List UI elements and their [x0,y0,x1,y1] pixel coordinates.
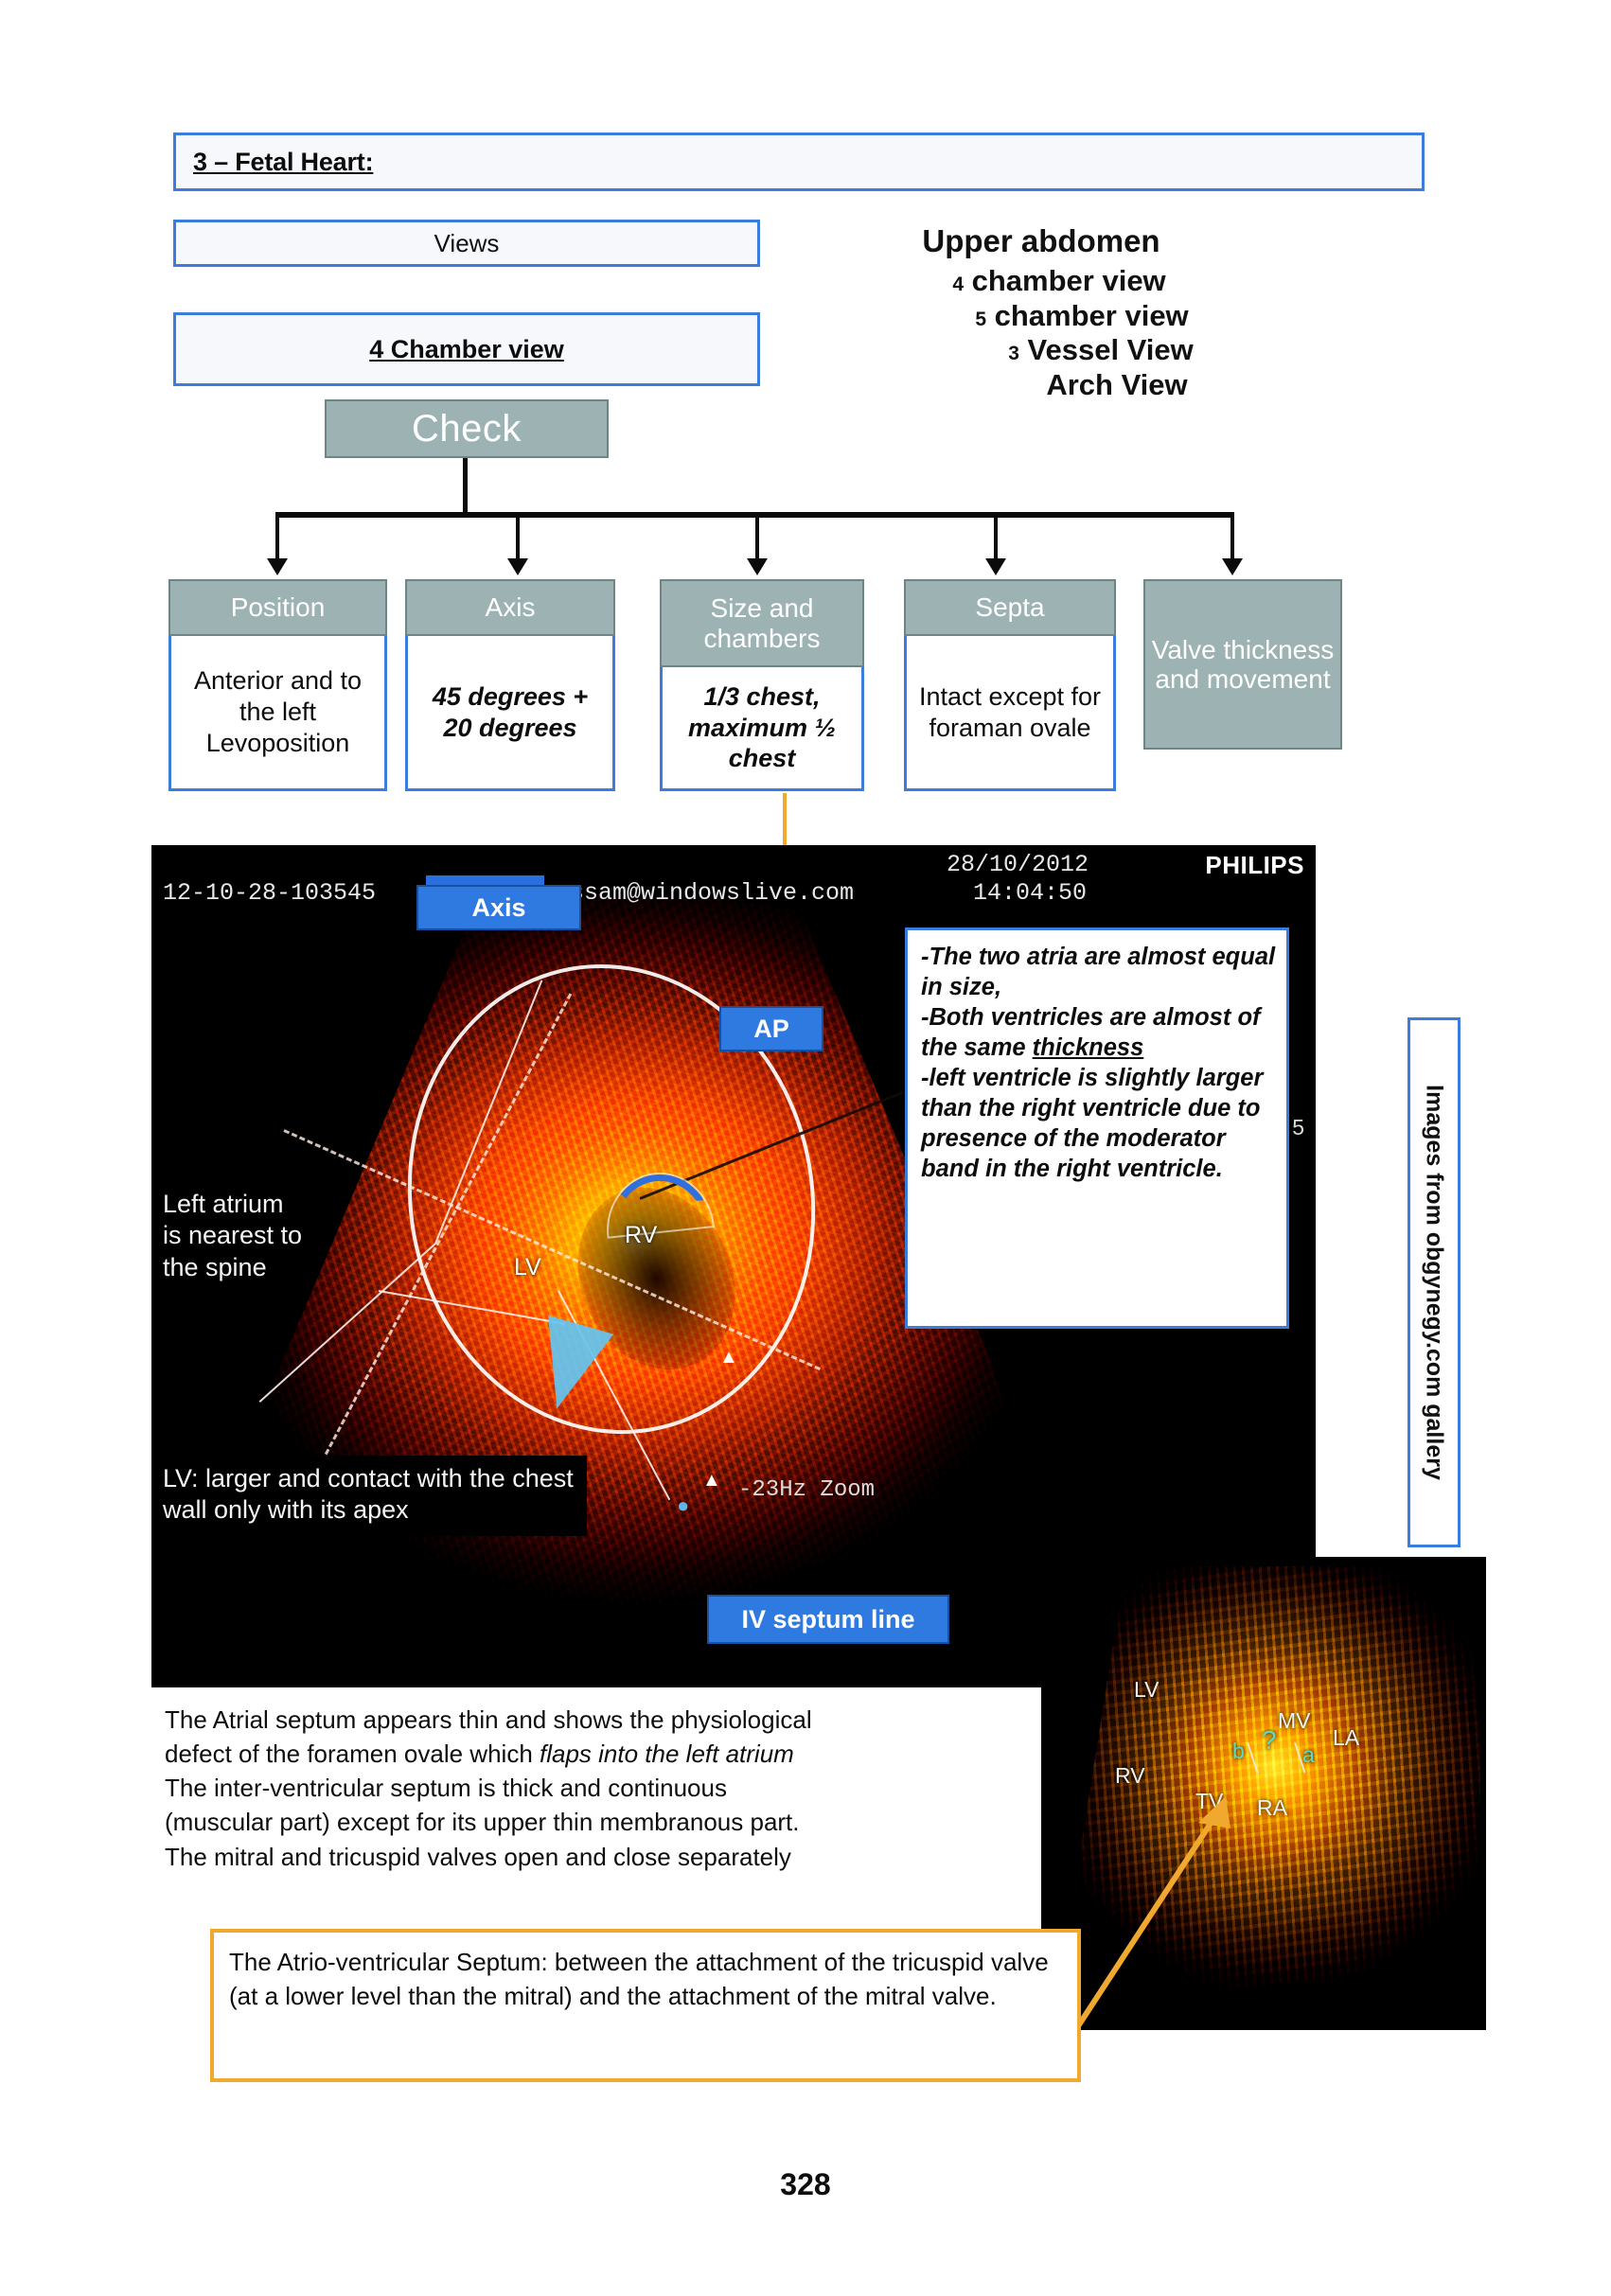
flow-column-position: Position Anterior and to the left Levopo… [168,579,387,791]
tag-axis[interactable]: Axis [416,885,581,930]
paragraph-line-2-italic: flaps into the left atrium [540,1740,794,1768]
us2-label-tv: TV [1195,1789,1223,1814]
paragraph-line-2-text: defect of the foramen ovale which [165,1740,540,1768]
page-canvas: 3 – Fetal Heart: Views 4 Chamber view Up… [0,0,1611,2296]
ultrasound-date: 28/10/2012 [947,851,1089,878]
ultrasound-right-scale: 5 [1292,1115,1304,1140]
ultrasound-secondary-panel: LV MV LA RV TV RA b ? a [1041,1557,1486,2030]
views-list-text-0: Upper abdomen [922,223,1160,258]
views-list-text-1: chamber view [972,264,1166,297]
section-title-box: 3 – Fetal Heart: [173,132,1425,191]
tag-iv-septum-line[interactable]: IV septum line [707,1595,949,1644]
us2-marker-a: a [1302,1742,1315,1768]
views-list-text-4: Arch View [1046,368,1187,401]
page-title: 3 – Fetal Heart: [193,148,373,177]
paragraph-line-3: The inter-ventricular septum is thick an… [165,1771,965,1805]
image-credit-box: Images from obgynegy.com gallery [1407,1017,1461,1547]
caliper-marker-icon-3: ▲ [702,1470,721,1492]
page-number: 328 [0,2167,1611,2202]
image-credit-label: Images from obgynegy.com gallery [1421,1085,1448,1480]
ultrasound-time: 14:04:50 [973,879,1087,907]
views-box: Views [173,220,760,267]
paragraph-line-2: defect of the foramen ovale which flaps … [165,1737,965,1771]
views-list-num-2: 5 [975,309,986,330]
ultrasound-secondary-speckle [1068,1566,1480,2011]
flow-column-size-body: 1/3 chest, maximum ½ chest [660,667,864,791]
tag-ap[interactable]: AP [719,1006,823,1051]
paragraph-line-1: The Atrial septum appears thin and shows… [165,1703,965,1737]
atrio-ventricular-septum-box: The Atrio-ventricular Septum: between th… [210,1929,1081,2082]
tag-iv-septum-label: IV septum line [741,1605,914,1634]
flow-column-position-body: Anterior and to the left Levoposition [168,636,387,791]
connector-drop-3 [994,517,998,562]
flow-column-position-head: Position [168,579,387,636]
callout-line-2: -Both ventricles are almost of the same … [921,1002,1277,1063]
note-lv-apex: LV: larger and contact with the chest wa… [151,1456,587,1536]
connector-drop-2 [755,517,759,562]
check-node-label: Check [412,408,522,450]
connector-arrow-1 [507,558,528,575]
blue-dot-marker-icon: ● [677,1493,689,1518]
caliper-marker-icon: ▲ [719,1347,738,1369]
ultrasound-overlay-id: 12-10-28-103545 [163,879,376,907]
views-list: Upper abdomen 4 chamber view 5 chamber v… [795,223,1287,402]
ultrasound-footer-tech: -23Hz Zoom [738,1477,875,1503]
us2-marker-question: ? [1262,1725,1277,1756]
views-list-text-2: chamber view [995,299,1189,332]
atrio-ventricular-septum-text: The Atrio-ventricular Septum: between th… [229,1948,1049,2010]
orange-connector-vertical [783,793,787,848]
paragraph-line-4: (muscular part) except for its upper thi… [165,1805,965,1839]
connector-drop-0 [275,517,279,562]
connector-arrow-4 [1222,558,1243,575]
views-list-item-3: 3 Vessel View [795,333,1287,368]
callout-line-3: -left ventricle is slightly larger than … [921,1063,1277,1184]
flow-column-size-head: Size and chambers [660,579,864,667]
connector-arrow-0 [267,558,288,575]
flow-column-valve: Valve thickness and movement [1143,579,1342,750]
check-node: Check [325,399,609,458]
us2-label-lv: LV [1134,1677,1159,1703]
four-chamber-view-label: 4 Chamber view [369,335,564,364]
us2-label-mv: MV [1278,1708,1311,1734]
flow-column-valve-head: Valve thickness and movement [1143,579,1342,750]
views-label: Views [434,229,500,258]
tag-axis-label: Axis [471,893,525,923]
ultrasound-secondary-image [1068,1566,1480,2011]
connector-arrow-3 [985,558,1006,575]
ultrasound-top-bar: 12-10-28-103545 essam@windowslive.com 28… [151,845,1316,911]
paragraph-line-5: The mitral and tricuspid valves open and… [165,1840,965,1874]
callout-line-1: -The two atria are almost equal in size, [921,942,1277,1002]
us2-label-la: LA [1333,1725,1359,1751]
us2-marker-b: b [1232,1739,1245,1764]
bottom-paragraph: The Atrial septum appears thin and shows… [151,1689,973,1918]
flow-column-septa-head: Septa [904,579,1116,636]
us2-label-ra: RA [1257,1795,1287,1821]
connector-drop-1 [516,517,520,562]
four-chamber-view-box: 4 Chamber view [173,312,760,386]
views-list-item-1: 4 chamber view [795,264,1287,299]
ultrasound-email: essam@windowslive.com [556,879,854,907]
us2-label-rv: RV [1115,1763,1145,1789]
connector-stem [463,458,468,515]
callout-chamber-notes: -The two atria are almost equal in size,… [905,927,1289,1329]
tag-ap-label: AP [753,1015,789,1044]
flow-column-septa: Septa Intact except for foraman ovale [904,579,1116,791]
flow-column-axis: Axis 45 degrees + 20 degrees [405,579,615,791]
callout-line-2-underlined: thickness [1033,1034,1144,1061]
views-list-item-0: Upper abdomen [795,223,1287,260]
connector-drop-4 [1230,517,1234,562]
flow-column-size: Size and chambers 1/3 chest, maximum ½ c… [660,579,864,791]
views-list-text-3: Vessel View [1028,333,1194,366]
connector-arrow-2 [747,558,768,575]
flow-column-axis-body: 45 degrees + 20 degrees [405,636,615,791]
views-list-num-1: 4 [952,274,964,295]
flow-column-axis-head: Axis [405,579,615,636]
views-list-item-4: Arch View [795,368,1287,403]
flow-column-septa-body: Intact except for foraman ovale [904,636,1116,791]
views-list-item-2: 5 chamber view [795,299,1287,334]
note-left-atrium: Left atrium is nearest to the spine [151,1181,312,1293]
philips-brand-label: PHILIPS [1205,851,1304,880]
views-list-num-3: 3 [1008,343,1019,364]
